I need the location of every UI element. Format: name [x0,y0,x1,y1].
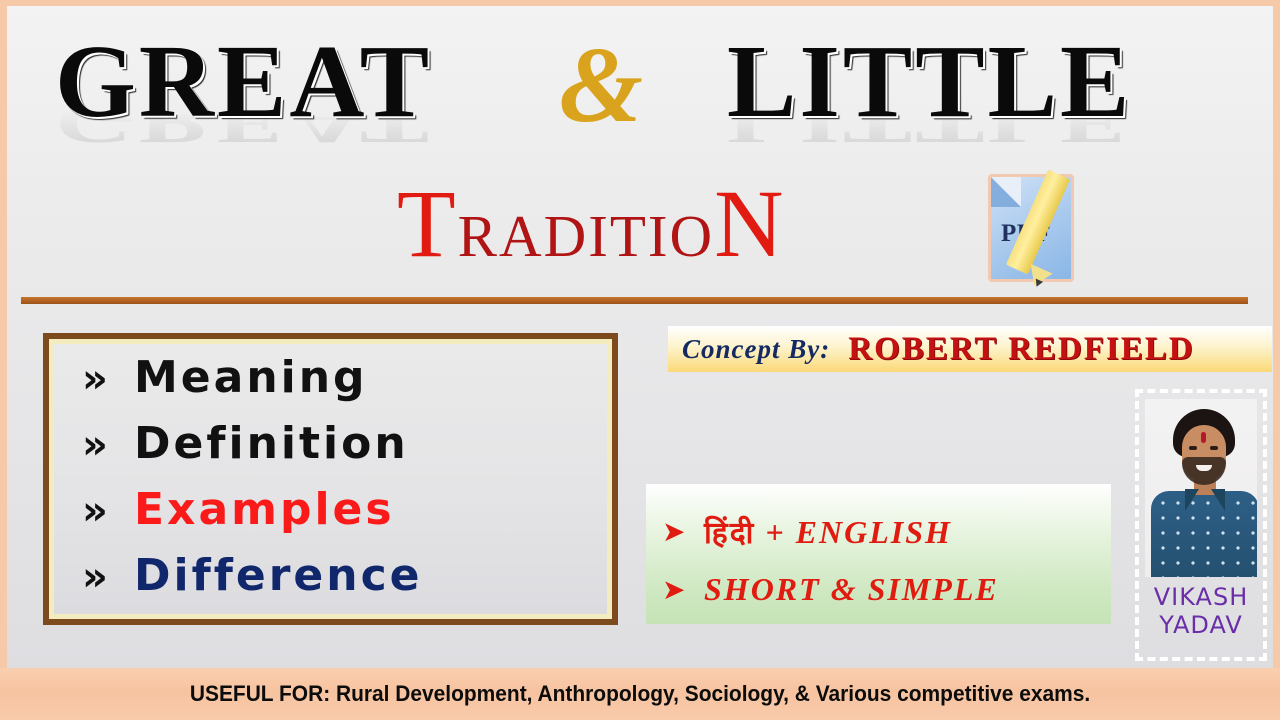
topics-box: » Meaning » Definition » Examples » Diff… [43,333,618,625]
pdf-fold-corner-icon [991,177,1021,207]
slide-canvas: GREAT LITTLE GREAT & LITTLE TraditioN PD… [7,6,1273,668]
subtitle-tradition: TraditioN [397,176,785,272]
presenter-name-line2: YADAV [1145,611,1257,639]
slide-root: GREAT LITTLE GREAT & LITTLE TraditioN PD… [0,0,1280,720]
topic-label-meaning: Meaning [134,352,368,403]
list-item[interactable]: ➤ SHORT & SIMPLE [662,560,1111,618]
collar-right-shape [1211,489,1225,511]
concept-author-name: ROBERT REDFIELD [848,331,1194,368]
title-word-great: GREAT [55,30,432,134]
beard-shape [1182,457,1226,485]
shirt-shape [1151,491,1257,577]
chevron-bullet-icon: » [82,554,134,600]
header-divider [21,297,1248,304]
subtitle-middle: raditio [458,182,715,275]
tilak-mark-icon [1201,432,1206,443]
list-item[interactable]: » Definition [82,418,607,484]
eye-right-shape [1210,446,1218,450]
subtitle-tail-letter: N [714,170,785,277]
title-row: GREAT LITTLE GREAT & LITTLE [7,14,1273,164]
list-item[interactable]: » Meaning [82,352,607,418]
arrow-bullet-icon: ➤ [662,573,704,606]
topic-label-difference: Difference [134,550,423,601]
feature-style: SHORT & SIMPLE [704,571,999,608]
chevron-bullet-icon: » [82,488,134,534]
topic-label-examples: Examples [134,484,395,535]
features-box: ➤ हिंदी + ENGLISH ➤ SHORT & SIMPLE [646,484,1111,624]
arrow-bullet-icon: ➤ [662,515,704,548]
presenter-name-line1: VIKASH [1145,583,1257,611]
subtitle-lead-letter: T [397,170,458,277]
pdf-document-icon[interactable]: PDF [982,168,1094,290]
presenter-name: VIKASH YADAV [1145,583,1257,640]
presenter-card: VIKASH YADAV [1135,389,1267,661]
chevron-bullet-icon: » [82,422,134,468]
feature-language: हिंदी + ENGLISH [704,511,952,552]
footer-banner: USEFUL FOR: Rural Development, Anthropol… [0,668,1280,720]
ampersand-symbol: & [559,32,643,140]
list-item[interactable]: » Difference [82,550,607,616]
chevron-bullet-icon: » [82,356,134,402]
eye-left-shape [1189,446,1197,450]
list-item[interactable]: » Examples [82,484,607,550]
topic-label-definition: Definition [134,418,409,469]
concept-by-banner: Concept By: ROBERT REDFIELD [668,326,1272,372]
concept-by-prefix: Concept By: [682,334,830,365]
title-word-little: LITTLE [727,30,1132,134]
collar-left-shape [1185,489,1199,511]
topics-list: » Meaning » Definition » Examples » Diff… [54,344,607,614]
footer-text: USEFUL FOR: Rural Development, Anthropol… [190,681,1090,707]
presenter-avatar [1145,399,1257,577]
feature-language-english: + ENGLISH [755,514,951,550]
feature-language-hindi: हिंदी [704,516,755,551]
list-item[interactable]: ➤ हिंदी + ENGLISH [662,502,1111,560]
